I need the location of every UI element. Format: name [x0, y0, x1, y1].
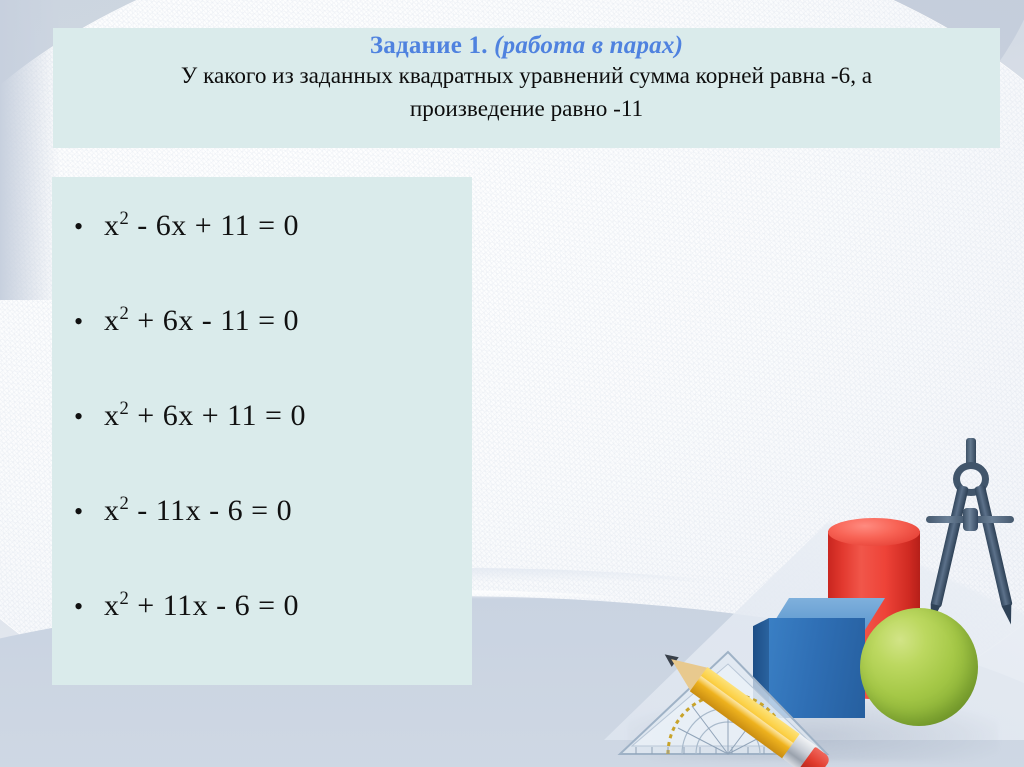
- equation-base: x: [104, 209, 120, 242]
- list-item[interactable]: • x2 + 6x + 11 = 0: [52, 399, 472, 494]
- equation-text: x2 + 6x - 11 = 0: [104, 304, 299, 338]
- equation-rest: + 6x - 11 = 0: [129, 304, 299, 337]
- equation-base: x: [104, 494, 120, 527]
- equation-list: • x2 - 6x + 11 = 0 • x2 + 6x - 11 = 0 • …: [52, 177, 472, 684]
- compass-leg-left: [930, 485, 969, 608]
- bullet-icon: •: [74, 214, 104, 240]
- page-title: Задание 1. (работа в парах): [53, 28, 1000, 59]
- equation-text: x2 - 11x - 6 = 0: [104, 494, 292, 528]
- compass-divider-icon: [920, 438, 1020, 614]
- equation-rest: - 6x + 11 = 0: [129, 209, 299, 242]
- equation-text: x2 + 6x + 11 = 0: [104, 399, 306, 433]
- list-item[interactable]: • x2 + 11x - 6 = 0: [52, 589, 472, 684]
- equation-text: x2 + 11x - 6 = 0: [104, 589, 299, 623]
- equation-base: x: [104, 589, 120, 622]
- list-item[interactable]: • x2 + 6x - 11 = 0: [52, 304, 472, 399]
- compass-leg-right: [974, 485, 1013, 608]
- equation-exponent: 2: [120, 398, 130, 419]
- equation-base: x: [104, 399, 120, 432]
- title-heading-italic: (работа в парах): [494, 32, 683, 59]
- equations-panel: • x2 - 6x + 11 = 0 • x2 + 6x - 11 = 0 • …: [52, 177, 472, 685]
- equation-exponent: 2: [120, 208, 130, 229]
- background-left-shade: [0, 0, 60, 300]
- equation-exponent: 2: [120, 588, 130, 609]
- equation-text: x2 - 6x + 11 = 0: [104, 209, 299, 243]
- math-objects-illustration: [598, 420, 1024, 767]
- task-question-line-2: произведение равно -11: [60, 94, 993, 125]
- equation-rest: + 11x - 6 = 0: [129, 589, 299, 622]
- title-panel: Задание 1. (работа в парах) У какого из …: [53, 28, 1000, 148]
- equation-exponent: 2: [120, 493, 130, 514]
- equation-base: x: [104, 304, 120, 337]
- equation-rest: + 6x + 11 = 0: [129, 399, 306, 432]
- bullet-icon: •: [74, 404, 104, 430]
- list-item[interactable]: • x2 - 6x + 11 = 0: [52, 209, 472, 304]
- list-item[interactable]: • x2 - 11x - 6 = 0: [52, 494, 472, 589]
- bullet-icon: •: [74, 594, 104, 620]
- equation-exponent: 2: [120, 303, 130, 324]
- task-question-line-1: У какого из заданных квадратных уравнени…: [60, 61, 993, 92]
- title-heading-bold: Задание 1.: [370, 32, 494, 59]
- compass-knob: [963, 508, 978, 531]
- cylinder-top-ellipse: [828, 518, 920, 546]
- bullet-icon: •: [74, 309, 104, 335]
- slide-canvas: Задание 1. (работа в парах) У какого из …: [0, 0, 1024, 767]
- bullet-icon: •: [74, 499, 104, 525]
- green-sphere-icon: [860, 608, 978, 726]
- equation-rest: - 11x - 6 = 0: [129, 494, 292, 527]
